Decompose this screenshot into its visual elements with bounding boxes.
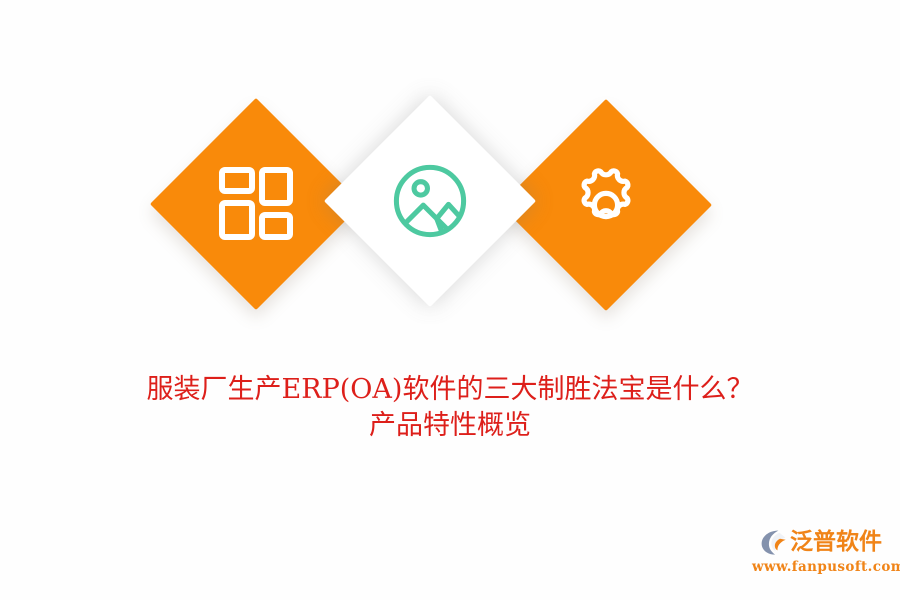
feature-diamond-cluster <box>0 0 900 340</box>
diamond-icon-slot <box>531 130 681 280</box>
brand-logo-name: 泛普软件 <box>790 531 882 554</box>
brand-logo-row: 泛普软件 <box>752 526 882 558</box>
page-title-line-2: 产品特性概览 <box>0 408 900 444</box>
page-canvas: 服装厂生产ERP(OA)软件的三大制胜法宝是什么？ 产品特性概览 泛普软件 ww… <box>0 0 900 600</box>
gear-settings-icon <box>566 165 646 245</box>
image-picture-icon <box>388 159 472 243</box>
page-title: 服装厂生产ERP(OA)软件的三大制胜法宝是什么？ 产品特性概览 <box>0 372 900 443</box>
brand-logo-url: www.fanpusoft.com <box>752 559 882 575</box>
grid-blocks-icon <box>218 166 294 242</box>
page-title-line-1: 服装厂生产ERP(OA)软件的三大制胜法宝是什么？ <box>0 372 900 408</box>
feature-diamond-image[interactable] <box>324 95 536 307</box>
diamond-icon-slot <box>181 129 331 279</box>
fanpu-swoosh-icon <box>760 529 787 556</box>
diamond-icon-slot <box>355 126 505 276</box>
brand-logo[interactable]: 泛普软件 www.fanpusoft.com <box>752 526 882 584</box>
